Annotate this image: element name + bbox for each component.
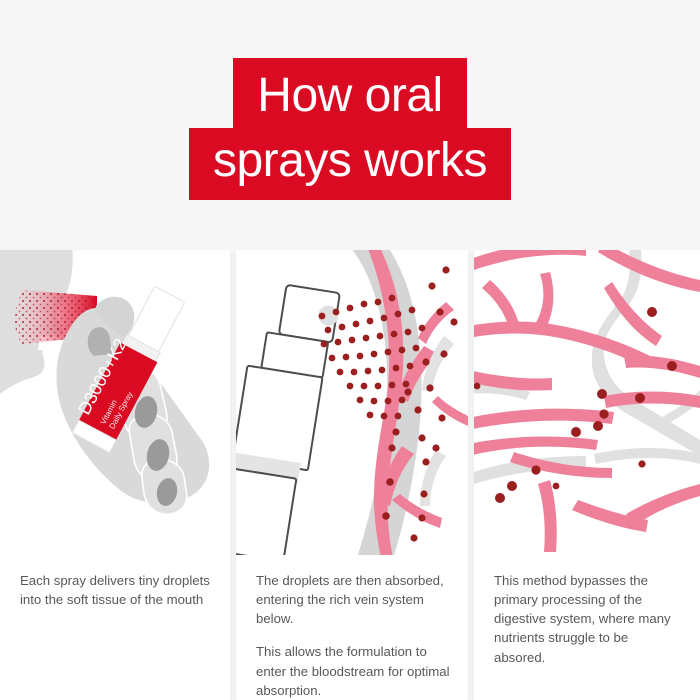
- panel-strip: D3000+K2 Vitamin Daily Spray Each spray …: [0, 250, 700, 700]
- panel-mouth: D3000+K2 Vitamin Daily Spray Each spray …: [0, 250, 230, 700]
- caption-text-1: The droplets are then absorbed, entering…: [256, 571, 450, 628]
- caption-text: This method bypasses the primary process…: [494, 571, 682, 667]
- spray-nozzle-droplets-vein-illustration: [236, 250, 468, 555]
- panel-absorption-caption: The droplets are then absorbed, entering…: [236, 555, 468, 700]
- person-spraying-into-mouth-illustration: D3000+K2 Vitamin Daily Spray: [0, 250, 230, 555]
- panel-bloodstream: This method bypasses the primary process…: [474, 250, 700, 700]
- vein-network-droplets-illustration: [474, 250, 700, 555]
- caption-text: Each spray delivers tiny droplets into t…: [20, 571, 212, 609]
- pink-vein-network: [474, 250, 700, 552]
- page-title: How oral sprays works: [0, 58, 700, 200]
- header: How oral sprays works: [0, 0, 700, 248]
- panel-bloodstream-caption: This method bypasses the primary process…: [474, 555, 700, 700]
- infographic-page: How oral sprays works: [0, 0, 700, 700]
- panel-mouth-caption: Each spray delivers tiny droplets into t…: [0, 555, 230, 700]
- title-line-1: How oral: [233, 58, 466, 129]
- panel-absorption: The droplets are then absorbed, entering…: [236, 250, 468, 700]
- caption-text-2: This allows the formulation to enter the…: [256, 642, 450, 699]
- title-line-2: sprays works: [189, 128, 511, 200]
- spray-bottle-nozzle: [236, 276, 342, 555]
